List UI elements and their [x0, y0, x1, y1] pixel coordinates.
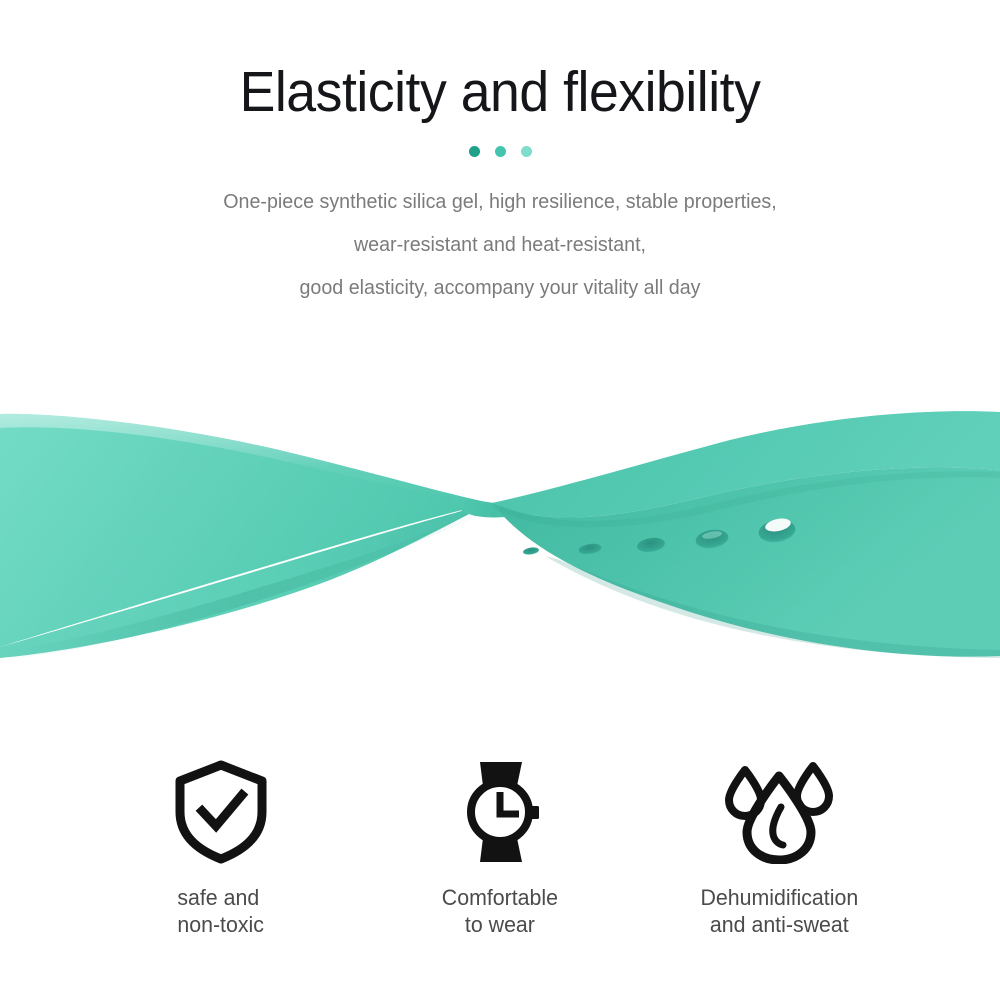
adjust-hole-1 — [523, 546, 540, 555]
subtitle-line-1: One-piece synthetic silica gel, high res… — [20, 180, 980, 223]
silicone-band-illustration — [0, 380, 1000, 680]
watch-hands — [500, 792, 519, 814]
caption-line-2: non-toxic — [178, 911, 265, 938]
water-drops-icon — [723, 756, 835, 868]
watch-crown — [530, 806, 539, 819]
page-title: Elasticity and flexibility — [30, 0, 970, 124]
caption-line-2: and anti-sweat — [700, 911, 858, 938]
divider-dot-1 — [469, 146, 480, 157]
subtitle-line-3: good elasticity, accompany your vitality… — [20, 266, 980, 309]
divider-dot-2 — [495, 146, 506, 157]
shield-outline — [180, 765, 262, 859]
shield-check-icon — [173, 756, 269, 868]
feature-caption-comfortable: Comfortable to wear — [442, 884, 558, 938]
caption-line-1: Dehumidification — [700, 884, 858, 911]
caption-line-2: to wear — [442, 911, 558, 938]
caption-line-1: Comfortable — [442, 884, 558, 911]
feature-dehumidification: Dehumidification and anti-sweat — [654, 756, 904, 938]
header: Elasticity and flexibility One-piece syn… — [0, 0, 1000, 309]
subtitle-block: One-piece synthetic silica gel, high res… — [20, 158, 980, 309]
feature-caption-safe: safe and non-toxic — [178, 884, 265, 938]
check-mark — [202, 795, 242, 826]
feature-safe-non-toxic: safe and non-toxic — [96, 756, 346, 938]
feature-row: safe and non-toxic Comfortable to wear — [0, 756, 1000, 938]
divider-dot-3 — [521, 146, 532, 157]
product-photo — [0, 380, 1000, 680]
feature-caption-dehumidification: Dehumidification and anti-sweat — [700, 884, 858, 938]
wristwatch-icon — [454, 756, 546, 868]
subtitle-line-2: wear-resistant and heat-resistant, — [20, 223, 980, 266]
feature-comfortable-to-wear: Comfortable to wear — [375, 756, 625, 938]
dot-divider — [0, 146, 1000, 158]
water-drop-inner-highlight — [773, 807, 783, 845]
caption-line-1: safe and — [178, 884, 265, 911]
product-feature-page: Elasticity and flexibility One-piece syn… — [0, 0, 1000, 1000]
